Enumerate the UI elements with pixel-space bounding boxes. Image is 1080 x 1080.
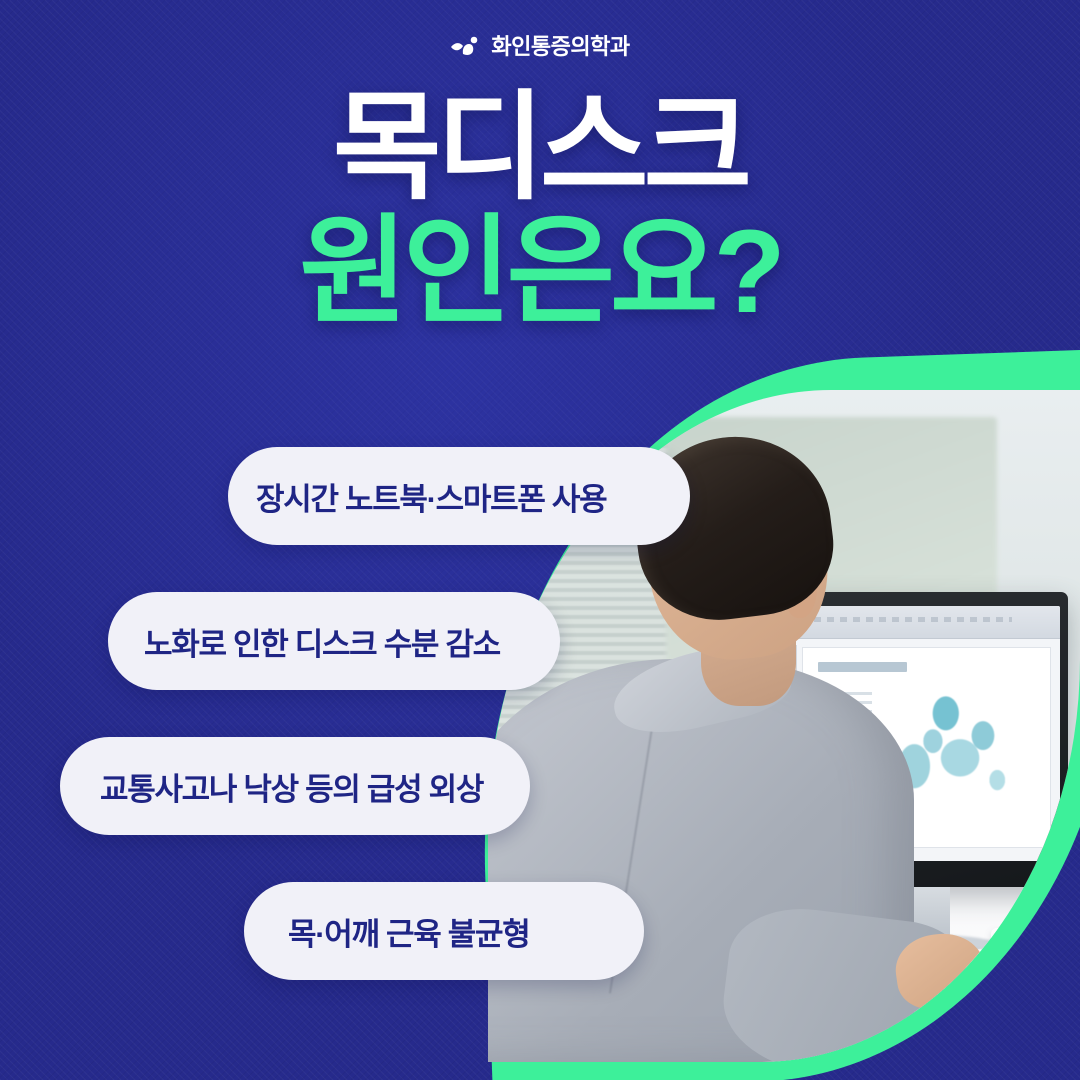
cause-card-3[interactable]: 교통사고나 낙상 등의 급성 외상 — [60, 737, 530, 835]
leaf-person-icon — [450, 34, 484, 60]
cause-card-1[interactable]: 장시간 노트북·스마트폰 사용 — [228, 447, 690, 545]
poster-root: 화인통증의학과 목디스크 원인은요? — [0, 0, 1080, 1080]
cause-card-3-label: 교통사고나 낙상 등의 급성 외상 — [100, 764, 483, 809]
title-line-2: 원인은요? — [0, 216, 1080, 328]
cause-card-4[interactable]: 목·어깨 근육 불균형 — [244, 882, 644, 980]
cause-card-2-label: 노화로 인한 디스크 수분 감소 — [144, 619, 500, 664]
cause-card-4-label: 목·어깨 근육 불균형 — [288, 909, 529, 954]
cause-card-2[interactable]: 노화로 인한 디스크 수분 감소 — [108, 592, 560, 690]
title-line-1: 목디스크 — [0, 92, 1080, 204]
cause-card-1-label: 장시간 노트북·스마트폰 사용 — [256, 474, 606, 519]
brand-name: 화인통증의학과 — [491, 36, 629, 58]
brand-logo: 화인통증의학과 — [0, 34, 1080, 60]
page-title: 목디스크 원인은요? — [0, 92, 1080, 328]
